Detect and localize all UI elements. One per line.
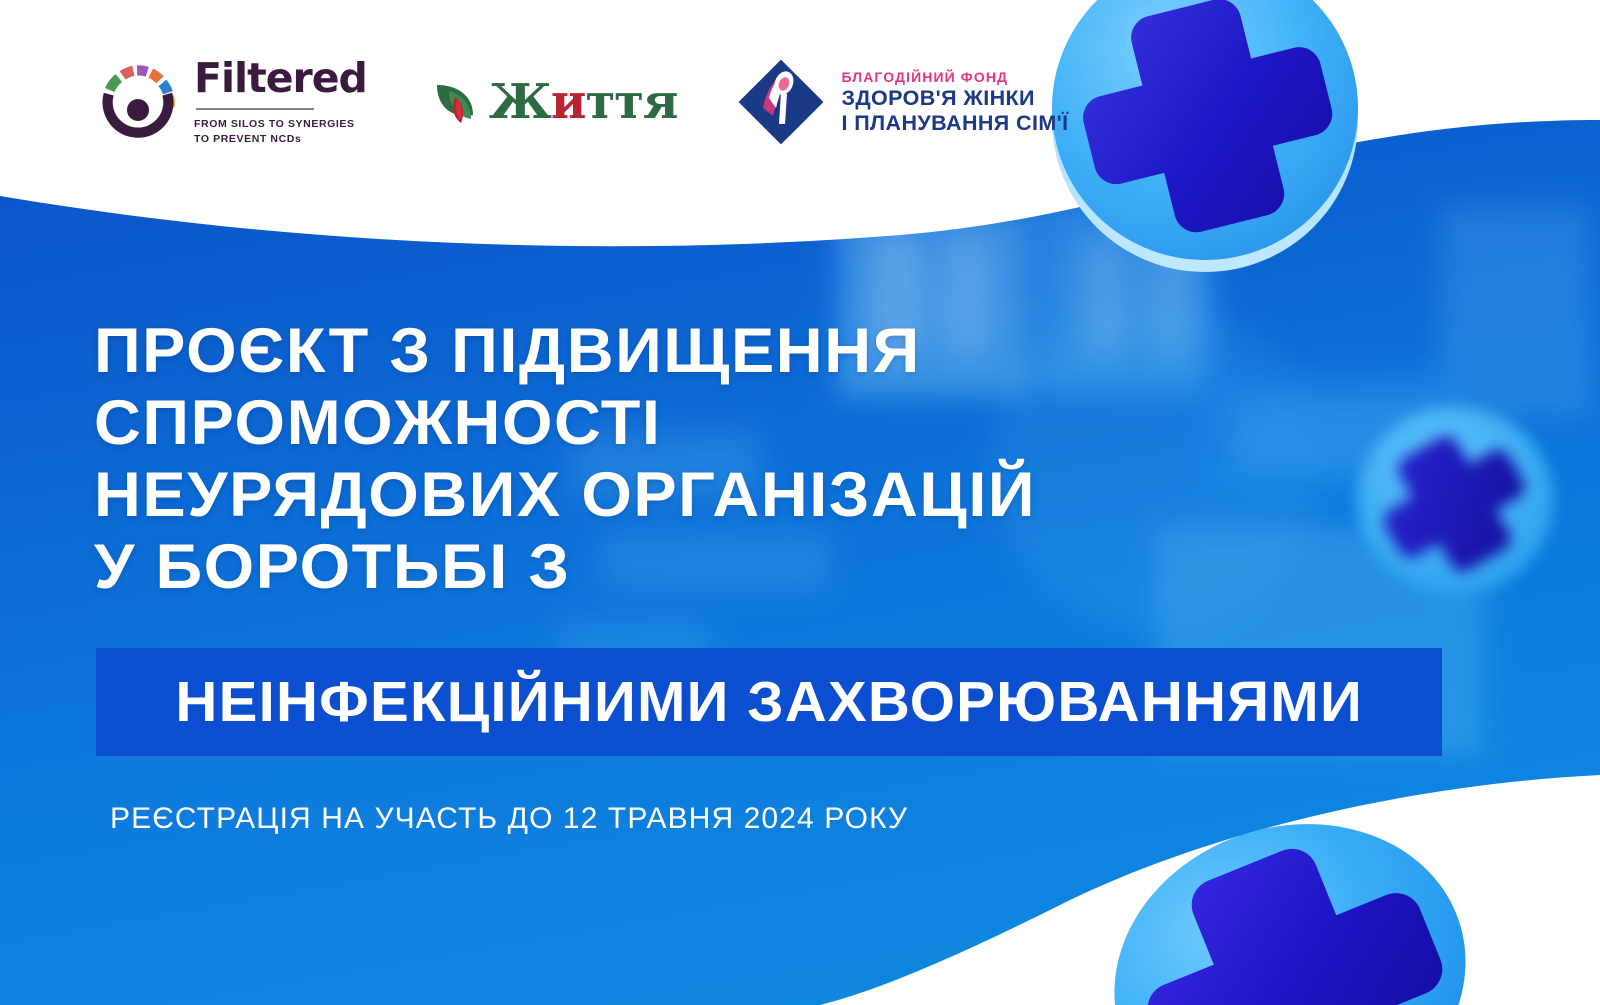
poster-root: Filtered FROM SILOS TO SYNERGIES TO PREV… — [0, 0, 1600, 1005]
medical-cross-disc-icon — [1035, 0, 1375, 282]
zhyttia-part3: ття — [586, 74, 678, 130]
logo-row: Filtered FROM SILOS TO SYNERGIES TO PREV… — [96, 58, 1068, 146]
filtered-tagline-line2: TO PREVENT NCDs — [194, 132, 367, 146]
zhyttia-part1: Ж — [489, 74, 551, 130]
logo-fund: БЛАГОДІЙНИЙ ФОНД ЗДОРОВ'Я ЖІНКИ І ПЛАНУВ… — [737, 58, 1068, 146]
fund-line-2: ЗДОРОВ'Я ЖІНКИ — [841, 86, 1068, 110]
zhyttia-part2: и — [551, 74, 586, 130]
highlight-band-text: НЕІНФЕКЦІЙНИМИ ЗАХВОРЮВАННЯМИ — [175, 669, 1363, 735]
page-title: ПРОЄКТ З ПІДВИЩЕННЯ СПРОМОЖНОСТІ НЕУРЯДО… — [94, 315, 1194, 603]
leaf-icon — [429, 75, 481, 129]
headline-line-3: НЕУРЯДОВИХ ОРГАНІЗАЦІЙ — [94, 459, 1227, 531]
headline-line-2: СПРОМОЖНОСТІ — [94, 387, 1227, 459]
logo-zhyttia: Життя — [429, 75, 678, 129]
filtered-wordmark: Filtered — [194, 58, 367, 99]
medical-cross-disc-icon — [1348, 398, 1563, 603]
filtered-divider — [196, 108, 314, 110]
headline-line-4: У БОРОТЬБІ З — [94, 531, 1227, 603]
medical-cross-disc-icon — [1090, 812, 1490, 1005]
filtered-ring-icon — [96, 60, 180, 144]
fund-line-3: І ПЛАНУВАННЯ СІМ'Ї — [841, 111, 1068, 135]
zhyttia-wordmark: Життя — [489, 78, 678, 126]
logo-filtered: Filtered FROM SILOS TO SYNERGIES TO PREV… — [96, 58, 367, 145]
headline-line-1: ПРОЄКТ З ПІДВИЩЕННЯ — [94, 315, 1227, 387]
filtered-tagline-line1: FROM SILOS TO SYNERGIES — [194, 117, 367, 131]
highlight-band: НЕІНФЕКЦІЙНИМИ ЗАХВОРЮВАННЯМИ — [96, 648, 1442, 756]
diamond-woman-icon — [737, 58, 825, 146]
fund-line-1: БЛАГОДІЙНИЙ ФОНД — [841, 69, 1068, 85]
registration-deadline-text: РЕЄСТРАЦІЯ НА УЧАСТЬ ДО 12 ТРАВНЯ 2024 Р… — [110, 802, 908, 836]
